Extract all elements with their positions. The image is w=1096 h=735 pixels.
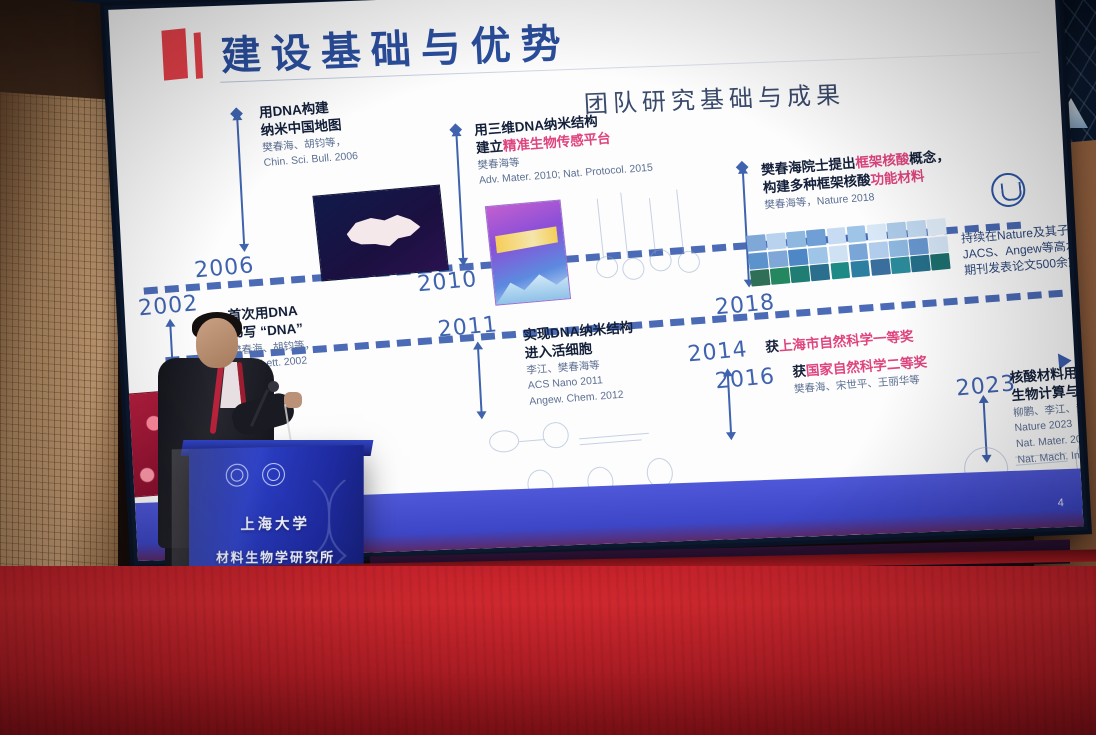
year-label-2014: 2014 <box>686 337 748 367</box>
entry-heading-2014: 获上海市自然科学一等奖 <box>765 328 915 357</box>
afm-china-map-image <box>312 184 449 281</box>
entry-2011: 实现DNA纳米结构 进入活细胞 李江、樊春海等 ACS Nano 2011 An… <box>522 319 640 410</box>
red-accent-bar-icon <box>194 32 203 79</box>
year-label-2010: 2010 <box>416 267 478 297</box>
entry-2014-award: 获上海市自然科学一等奖 <box>765 328 915 357</box>
entry-2018: 樊春海院士提出框架核酸概念， 构建多种框架核酸功能材料 樊春海等，Nature … <box>760 148 953 213</box>
entry-2010: 用三维DNA纳米结构 建立精准生物传感平台 樊春海等 Adv. Mater. 2… <box>474 109 654 189</box>
speaker-head <box>196 318 238 368</box>
year-label-2006: 2006 <box>193 253 255 283</box>
year-label-2018: 2018 <box>714 290 776 320</box>
journal-cover-image <box>485 199 571 305</box>
journal-cover-art <box>493 267 570 305</box>
journal-title-band <box>495 226 559 253</box>
china-map-shape-icon <box>341 208 423 258</box>
year-label-2011: 2011 <box>437 312 499 342</box>
microphone-head <box>268 381 279 392</box>
speaker-hand <box>284 392 302 408</box>
red-accent-mark-icon <box>161 28 188 80</box>
podium-org-line-1: 上海大学 <box>189 512 364 535</box>
year-label-2002: 2002 <box>137 291 199 321</box>
conference-hall-scene: 建设基础与优势 团队研究基础与成果 2006 用DNA构建 纳米中国地图 樊春海… <box>0 0 1096 735</box>
entry-2006: 用DNA构建 纳米中国地图 樊春海、胡钧等， Chin. Sci. Bull. … <box>258 97 358 171</box>
institute-badge-icon <box>990 172 1027 209</box>
timeline-connector-2010 <box>456 135 465 259</box>
dna-structure-sketch <box>586 181 717 301</box>
shanghai-university-logo-icon <box>226 464 249 487</box>
timeline-connector-2011 <box>477 348 482 412</box>
red-carpet-floor <box>0 566 1096 735</box>
slide-page-number: 4 <box>1057 497 1064 509</box>
podium-logos <box>226 463 285 487</box>
publication-note: 持续在Nature及其子刊、 JACS、Angew等高水平 期刊发表论文500余… <box>960 221 1083 279</box>
timeline-connector-2006 <box>236 119 245 245</box>
institute-logo-icon <box>262 463 285 486</box>
left-acoustic-wall-panel <box>0 92 118 600</box>
entry-2016-award: 获国家自然科学二等奖 樊春海、宋世平、王丽华等 <box>792 353 930 396</box>
framework-nucleic-acid-gallery <box>746 218 950 287</box>
